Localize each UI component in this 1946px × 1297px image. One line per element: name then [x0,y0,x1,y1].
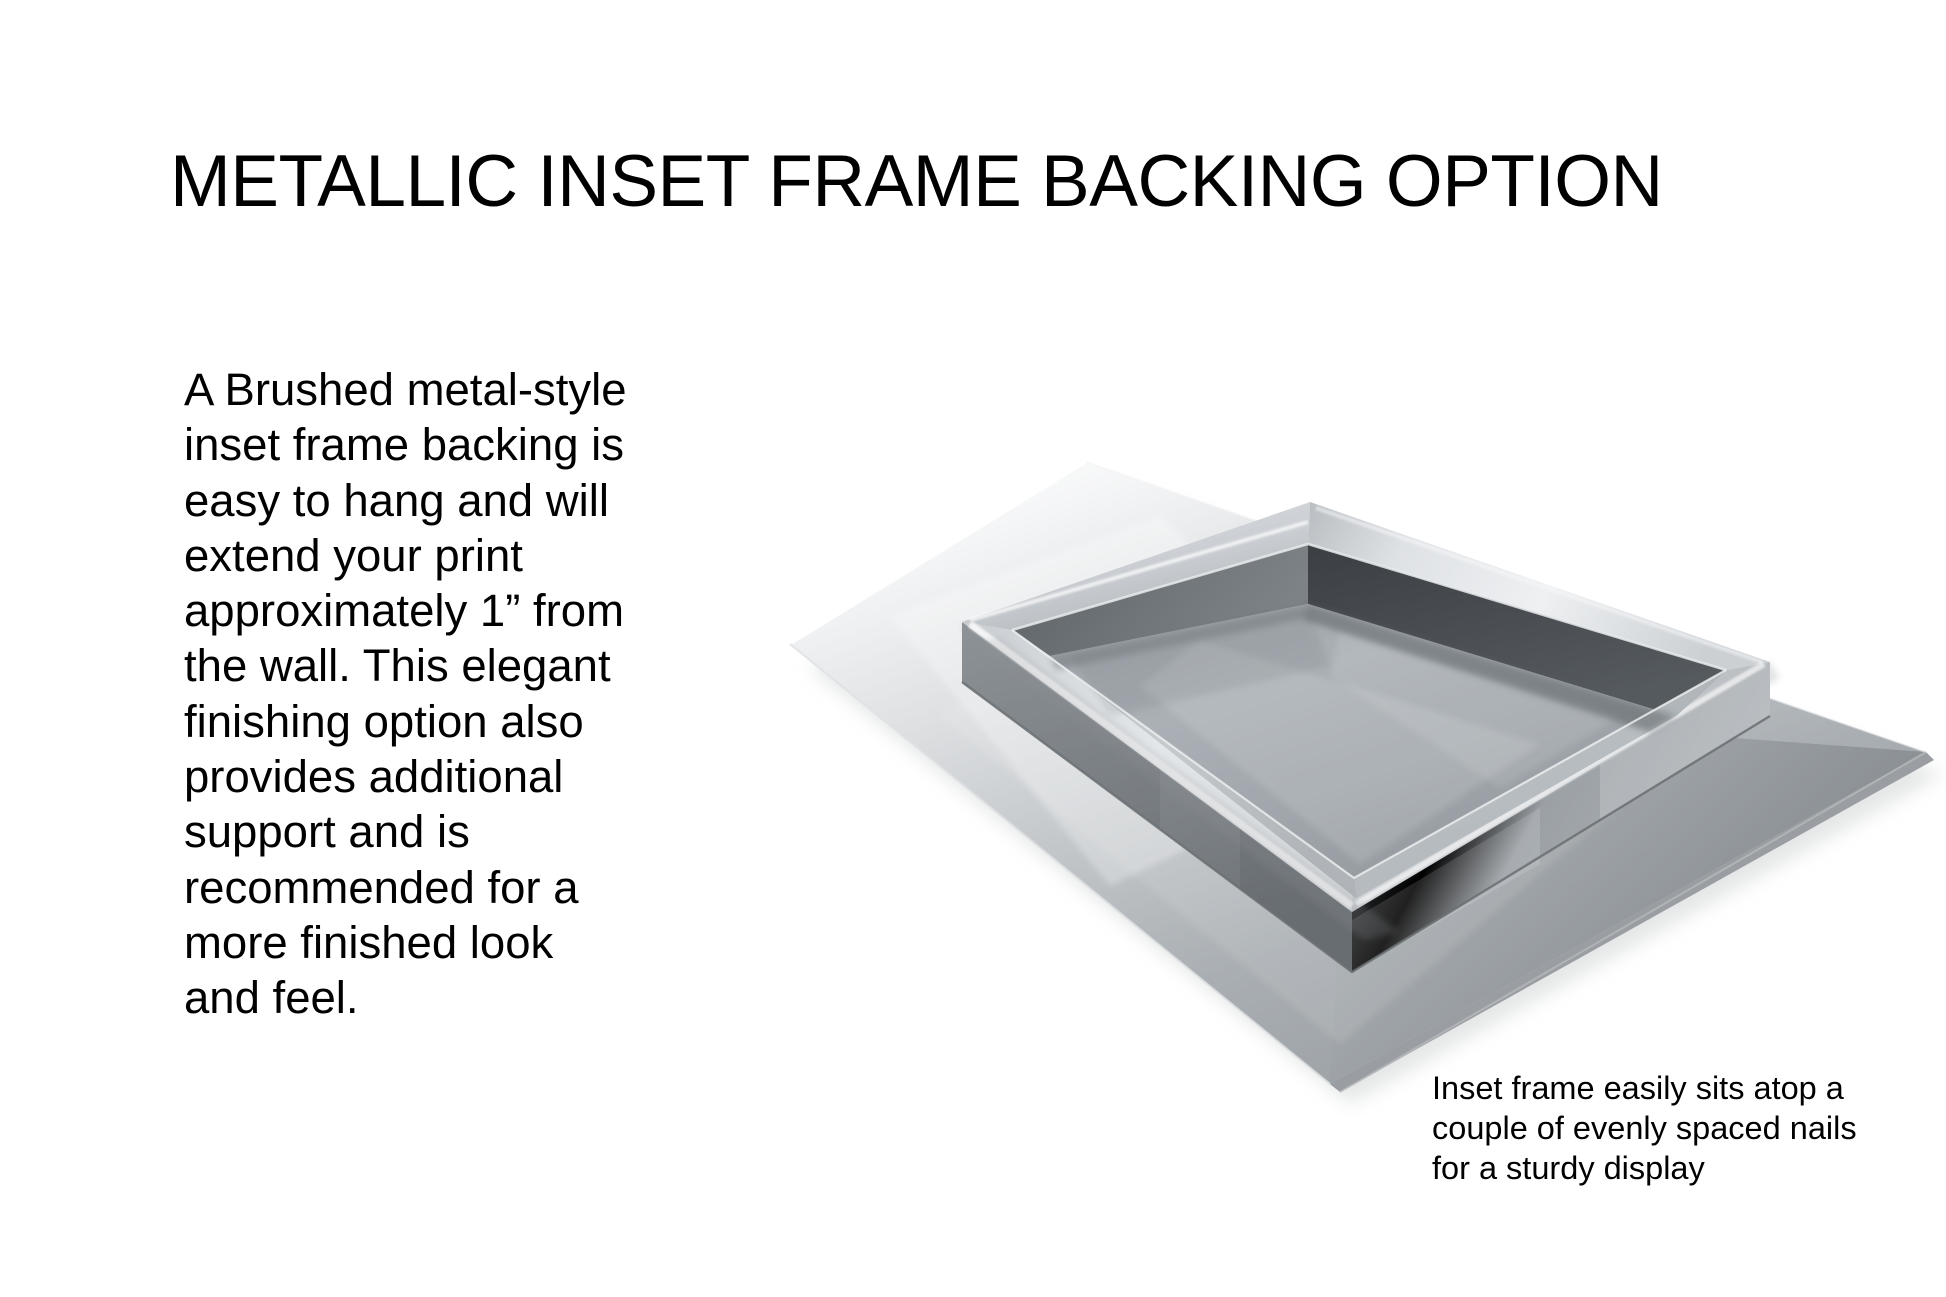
body-line: more finished look [184,915,614,970]
body-line: easy to hang and will [184,473,614,528]
body-line: recommended for a [184,860,614,915]
body-line: inset frame backing is [184,417,614,472]
caption-line: Inset frame easily sits atop a [1432,1068,1852,1108]
body-line: approximately 1” from [184,583,614,638]
body-line: the wall. This elegant [184,638,614,693]
body-line: extend your print [184,528,614,583]
caption-line: couple of evenly spaced nails [1432,1108,1852,1148]
inset-frame-illustration [640,416,1946,1116]
body-line: finishing option also [184,694,614,749]
body-line: A Brushed metal-style [184,362,614,417]
product-caption: Inset frame easily sits atop a couple of… [1432,1068,1852,1188]
caption-line: for a sturdy display [1432,1148,1852,1188]
slide-canvas: METALLIC INSET FRAME BACKING OPTION A Br… [0,0,1946,1297]
body-line: support and is [184,804,614,859]
page-title: METALLIC INSET FRAME BACKING OPTION [170,145,1810,218]
body-line: provides additional [184,749,614,804]
inset-frame-product-image [640,416,1946,1116]
body-paragraph: A Brushed metal-style inset frame backin… [184,362,614,1026]
body-line: and feel. [184,970,614,1025]
